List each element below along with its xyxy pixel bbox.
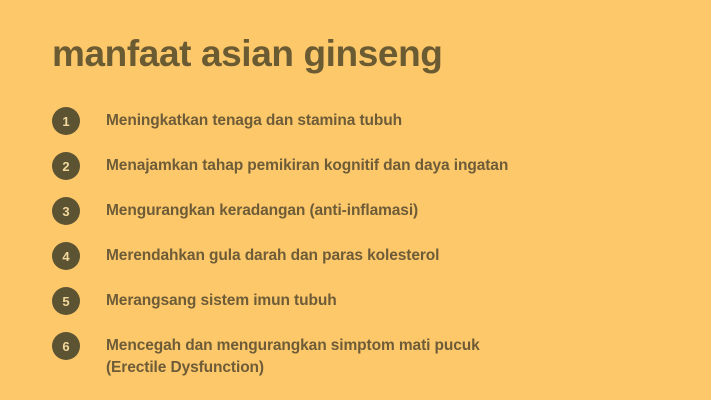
list-item-label: Merendahkan gula darah dan paras koleste… xyxy=(106,241,439,267)
list-item-label: Mencegah dan mengurangkan simptom mati p… xyxy=(106,331,480,379)
list-item-label: Meningkatkan tenaga dan stamina tubuh xyxy=(106,106,402,132)
benefit-list: 1 Meningkatkan tenaga dan stamina tubuh … xyxy=(52,106,672,389)
list-item-label: Merangsang sistem imun tubuh xyxy=(106,286,337,312)
slide-canvas: manfaat asian ginseng 1 Meningkatkan ten… xyxy=(0,0,711,400)
list-item-number-badge: 2 xyxy=(52,152,80,180)
list-item: 4 Merendahkan gula darah dan paras koles… xyxy=(52,241,672,286)
list-item-label: Mengurangkan keradangan (anti-inflamasi) xyxy=(106,196,418,222)
list-item: 6 Mencegah dan mengurangkan simptom mati… xyxy=(52,331,672,389)
list-item-number-badge: 3 xyxy=(52,197,80,225)
list-item-number-badge: 5 xyxy=(52,287,80,315)
list-item-label: Menajamkan tahap pemikiran kognitif dan … xyxy=(106,151,508,177)
list-item: 5 Merangsang sistem imun tubuh xyxy=(52,286,672,331)
list-item: 3 Mengurangkan keradangan (anti-inflamas… xyxy=(52,196,672,241)
list-item-number-badge: 6 xyxy=(52,332,80,360)
list-item-number-badge: 4 xyxy=(52,242,80,270)
list-item: 1 Meningkatkan tenaga dan stamina tubuh xyxy=(52,106,672,151)
page-title: manfaat asian ginseng xyxy=(52,30,443,78)
list-item-number-badge: 1 xyxy=(52,107,80,135)
list-item: 2 Menajamkan tahap pemikiran kognitif da… xyxy=(52,151,672,196)
